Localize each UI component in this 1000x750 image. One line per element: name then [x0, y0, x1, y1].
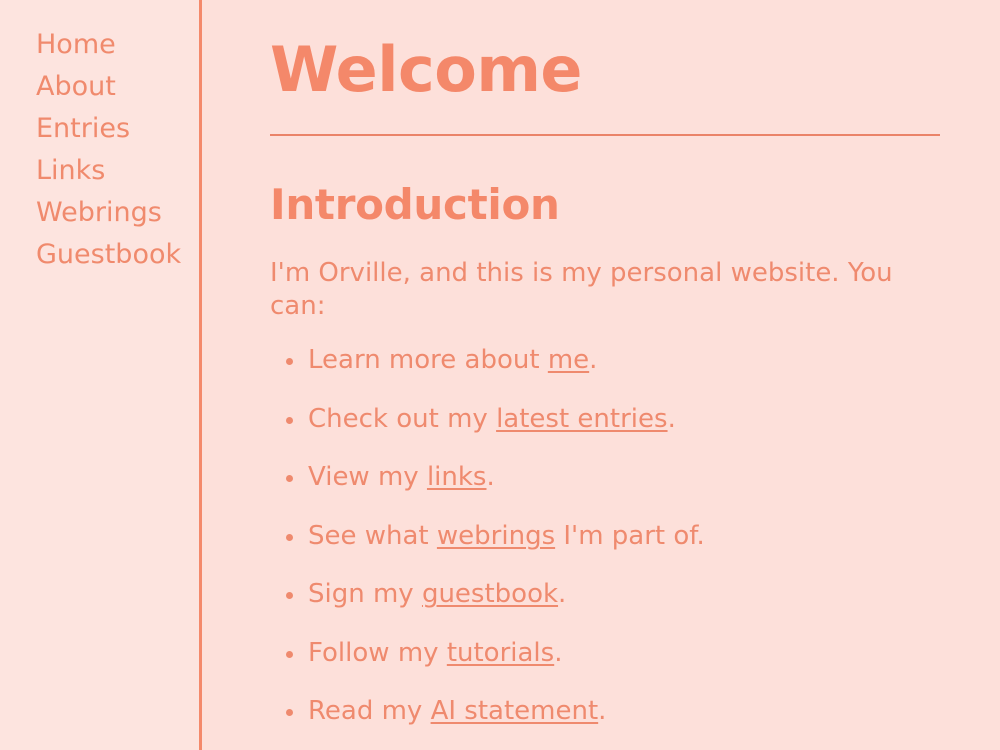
page-title: Welcome	[270, 34, 940, 105]
list-item-text-after: .	[668, 404, 676, 434]
list-item: Read my AI statement.	[270, 695, 940, 728]
list-item-text-after: .	[554, 638, 562, 668]
section-heading-introduction: Introduction	[270, 180, 940, 230]
list-item: Learn more about me.	[270, 344, 940, 377]
link-links[interactable]: links	[427, 462, 487, 492]
list-item: See what webrings I'm part of.	[270, 520, 940, 553]
sidebar-item-guestbook[interactable]: Guestbook	[0, 234, 199, 276]
sidebar-item-entries[interactable]: Entries	[0, 108, 199, 150]
link-me[interactable]: me	[548, 345, 589, 375]
main-content: Welcome Introduction I'm Orville, and th…	[202, 0, 1000, 750]
list-item-text-after: .	[598, 696, 606, 726]
sidebar-item-about[interactable]: About	[0, 66, 199, 108]
list-item-text-before: View my	[308, 462, 427, 492]
list-item: Follow my tutorials.	[270, 637, 940, 670]
sidebar-item-home[interactable]: Home	[0, 24, 199, 66]
list-item-text-after: .	[558, 579, 566, 609]
link-webrings[interactable]: webrings	[437, 521, 555, 551]
link-guestbook[interactable]: guestbook	[422, 579, 558, 609]
list-item-text-after: I'm part of.	[555, 521, 705, 551]
link-tutorials[interactable]: tutorials	[447, 638, 554, 668]
list-item-text-before: Learn more about	[308, 345, 548, 375]
sidebar-item-links[interactable]: Links	[0, 150, 199, 192]
list-item: Check out my latest entries.	[270, 403, 940, 436]
list-item: View my links.	[270, 461, 940, 494]
list-item-text-after: .	[589, 345, 597, 375]
link-list: Learn more about me. Check out my latest…	[270, 344, 940, 750]
list-item-text-before: See what	[308, 521, 437, 551]
sidebar-item-webrings[interactable]: Webrings	[0, 192, 199, 234]
list-item-text-before: Read my	[308, 696, 431, 726]
link-ai-statement[interactable]: AI statement	[431, 696, 599, 726]
sidebar-nav: Home About Entries Links Webrings Guestb…	[0, 0, 202, 750]
intro-paragraph: I'm Orville, and this is my personal web…	[270, 257, 940, 325]
list-item-text-before: Sign my	[308, 579, 422, 609]
list-item-text-before: Check out my	[308, 404, 496, 434]
list-item: Sign my guestbook.	[270, 578, 940, 611]
title-divider	[270, 134, 940, 136]
list-item-text-after: .	[486, 462, 494, 492]
link-latest-entries[interactable]: latest entries	[496, 404, 667, 434]
list-item-text-before: Follow my	[308, 638, 447, 668]
